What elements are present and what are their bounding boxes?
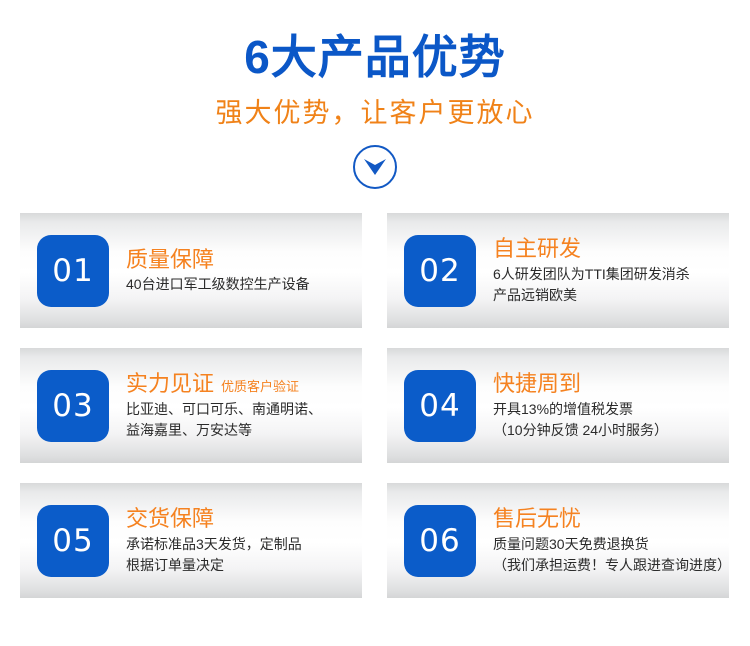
card-description-line: （我们承担运费！专人跟进查询进度）: [493, 555, 731, 576]
card-description-line: 质量问题30天免费退换货: [493, 534, 731, 555]
card-body: 实力见证优质客户验证比亚迪、可口可乐、南通明诺、益海嘉里、万安达等: [126, 370, 322, 441]
card-title: 自主研发: [493, 235, 581, 263]
advantage-card: 02自主研发6人研发团队为TTI集团研发消杀产品远销欧美: [387, 213, 729, 328]
card-description-line: 40台进口军工级数控生产设备: [126, 274, 310, 295]
card-title-row: 售后无忧: [493, 505, 731, 533]
card-description-line: 益海嘉里、万安达等: [126, 420, 322, 441]
advantage-card: 05交货保障承诺标准品3天发货，定制品根据订单量决定: [20, 483, 362, 598]
card-title-row: 交货保障: [126, 505, 302, 533]
card-description-line: 6人研发团队为TTI集团研发消杀: [493, 264, 690, 285]
card-number-badge: 02: [404, 235, 476, 307]
page-header: 6大产品优势 强大优势，让客户更放心: [0, 0, 750, 189]
chevron-down-icon: [353, 145, 397, 189]
card-body: 质量保障40台进口军工级数控生产设备: [126, 246, 310, 296]
chevron-down-wrapper: [0, 145, 750, 189]
product-advantages-page: 6大产品优势 强大优势，让客户更放心 01质量保障40台进口军工级数控生产设备0…: [0, 0, 750, 646]
card-description-line: 开具13%的增值税发票: [493, 399, 668, 420]
card-title: 交货保障: [126, 505, 214, 533]
card-description-line: 根据订单量决定: [126, 555, 302, 576]
card-title: 质量保障: [126, 246, 214, 274]
card-body: 交货保障承诺标准品3天发货，定制品根据订单量决定: [126, 505, 302, 576]
card-title-row: 实力见证优质客户验证: [126, 370, 322, 398]
card-description-line: （10分钟反馈 24小时服务）: [493, 420, 668, 441]
card-number-badge: 01: [37, 235, 109, 307]
card-description-line: 承诺标准品3天发货，定制品: [126, 534, 302, 555]
card-number-badge: 06: [404, 505, 476, 577]
card-number-badge: 04: [404, 370, 476, 442]
card-title-row: 快捷周到: [493, 370, 668, 398]
card-description-line: 比亚迪、可口可乐、南通明诺、: [126, 399, 322, 420]
advantage-card: 04快捷周到开具13%的增值税发票（10分钟反馈 24小时服务）: [387, 348, 729, 463]
card-number-badge: 05: [37, 505, 109, 577]
card-body: 自主研发6人研发团队为TTI集团研发消杀产品远销欧美: [493, 235, 690, 306]
advantage-card-grid: 01质量保障40台进口军工级数控生产设备02自主研发6人研发团队为TTI集团研发…: [20, 213, 730, 598]
card-body: 售后无忧质量问题30天免费退换货（我们承担运费！专人跟进查询进度）: [493, 505, 731, 576]
page-subtitle: 强大优势，让客户更放心: [0, 97, 750, 129]
advantage-card: 03实力见证优质客户验证比亚迪、可口可乐、南通明诺、益海嘉里、万安达等: [20, 348, 362, 463]
card-title-row: 自主研发: [493, 235, 690, 263]
advantage-card: 06售后无忧质量问题30天免费退换货（我们承担运费！专人跟进查询进度）: [387, 483, 729, 598]
card-title: 售后无忧: [493, 505, 581, 533]
card-body: 快捷周到开具13%的增值税发票（10分钟反馈 24小时服务）: [493, 370, 668, 441]
card-description-line: 产品远销欧美: [493, 285, 690, 306]
card-title: 快捷周到: [493, 370, 581, 398]
card-title-note: 优质客户验证: [221, 376, 299, 395]
card-number-badge: 03: [37, 370, 109, 442]
card-title: 实力见证: [126, 370, 214, 398]
page-title: 6大产品优势: [0, 32, 750, 83]
card-title-row: 质量保障: [126, 246, 310, 274]
advantage-card: 01质量保障40台进口军工级数控生产设备: [20, 213, 362, 328]
